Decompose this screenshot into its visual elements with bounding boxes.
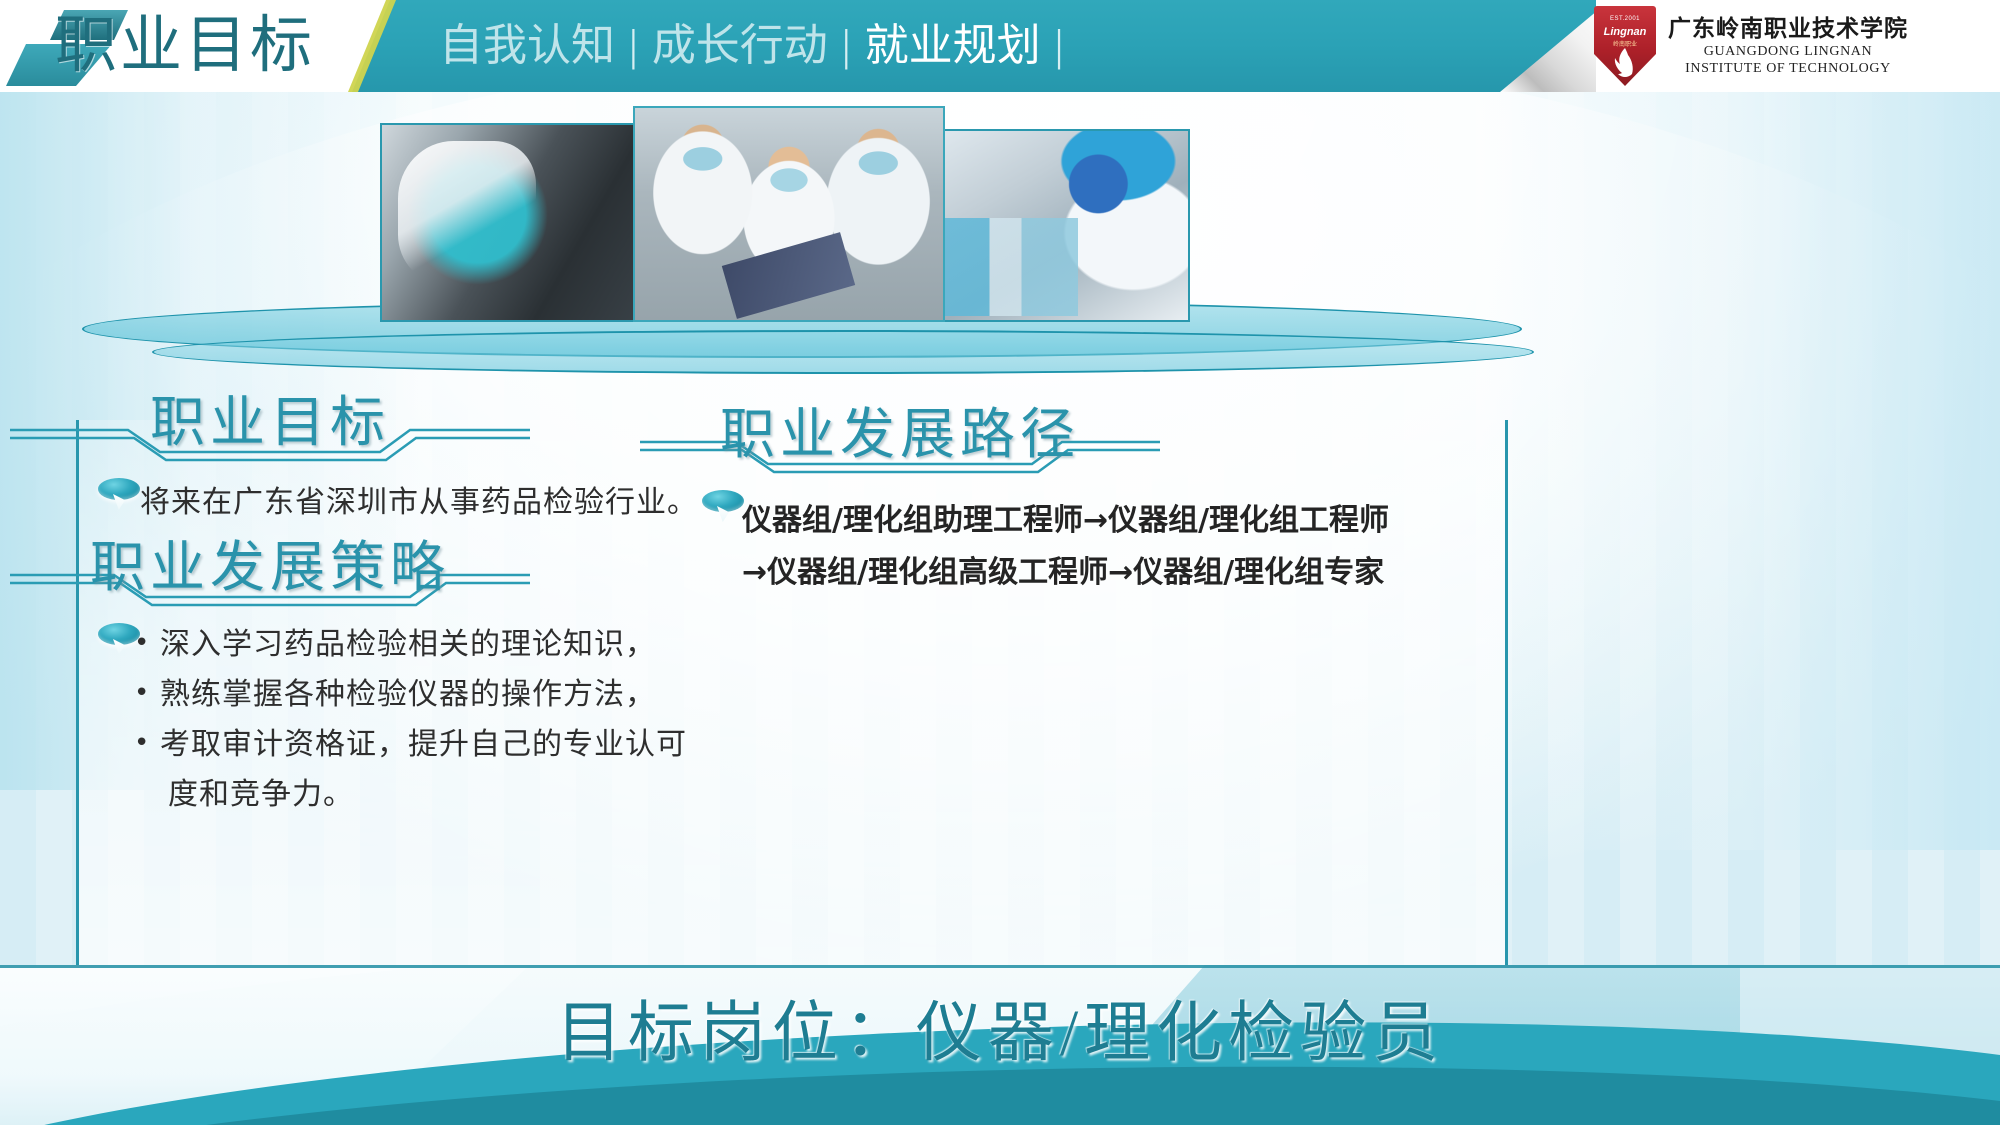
shield-crest-icon: EST.2001 Lingnan 岭南职业 xyxy=(1594,6,1656,86)
photo-microscope-analysis xyxy=(937,129,1190,322)
background-right-glow xyxy=(1480,90,2000,850)
nav-separator: | xyxy=(842,8,851,84)
bullet-disc xyxy=(98,478,140,500)
bullet-marker-icon xyxy=(700,490,746,520)
shield-wordmark: Lingnan xyxy=(1594,26,1656,38)
platform-ellipse-front xyxy=(152,330,1534,374)
heading-career-goal-text: 职业目标 xyxy=(134,378,406,468)
bottom-banner: 目标岗位：仪器/理化检验员 xyxy=(0,965,2000,1125)
phoenix-bird-icon xyxy=(1608,46,1642,80)
list-item-text: 深入学习药品检验相关的理论知识， xyxy=(160,627,656,662)
banner-top-rule xyxy=(0,965,2000,968)
list-item: 熟练掌握各种检验仪器的操作方法， xyxy=(130,670,687,720)
career-path-body: 仪器组/理化组助理工程师→仪器组/理化组工程师 →仪器组/理化组高级工程师→仪器… xyxy=(742,495,1389,599)
page-title: 职业目标 xyxy=(55,6,315,86)
career-goal-body: 将来在广东省深圳市从事药品检验行业。 xyxy=(140,480,698,526)
school-name-en-line2: INSTITUTE OF TECHNOLOGY xyxy=(1668,60,1908,77)
heading-career-strategy-text: 职业发展策略 xyxy=(74,523,466,613)
photo-lab-team-discussion xyxy=(633,106,945,322)
list-item-text: 熟练掌握各种检验仪器的操作方法， xyxy=(160,677,656,712)
school-name-en-line1: GUANGDONG LINGNAN xyxy=(1668,43,1908,60)
heading-career-strategy: 职业发展策略 xyxy=(10,523,530,613)
shield-est-label: EST.2001 xyxy=(1594,16,1656,22)
school-name-cn: 广东岭南职业技术学院 xyxy=(1668,15,1908,43)
list-item: 深入学习药品检验相关的理论知识， xyxy=(130,620,687,670)
nav-item-self-awareness[interactable]: 自我认知 xyxy=(425,8,629,84)
heading-career-path: 职业发展路径 xyxy=(640,390,1160,480)
photo-pipetting-samples xyxy=(380,123,650,322)
target-position-title: 目标岗位：仪器/理化检验员 xyxy=(0,979,2000,1089)
heading-career-goal: 职业目标 xyxy=(10,378,530,468)
list-item-text-continuation: 度和竞争力。 xyxy=(160,770,687,820)
slide-header: 职业目标 自我认知 | 成长行动 | 就业规划 | EST.2001 Lingn… xyxy=(0,0,2000,92)
nav-separator: | xyxy=(629,8,638,84)
heading-career-path-text: 职业发展路径 xyxy=(704,390,1096,480)
list-item: 考取审计资格证，提升自己的专业认可 度和竞争力。 xyxy=(130,720,687,820)
header-nav: 自我认知 | 成长行动 | 就业规划 | xyxy=(425,8,1063,84)
bullet-marker-icon xyxy=(96,478,142,508)
bullet-disc xyxy=(702,490,744,512)
slide-root: 职业目标 自我认知 | 成长行动 | 就业规划 | EST.2001 Lingn… xyxy=(0,0,2000,1125)
nav-item-career-planning[interactable]: 就业规划 xyxy=(851,8,1055,84)
photo-strip xyxy=(380,106,1200,322)
nav-separator: | xyxy=(1055,8,1064,84)
list-item-text: 考取审计资格证，提升自己的专业认可 xyxy=(160,727,687,762)
career-path-line-2: →仪器组/理化组高级工程师→仪器组/理化组专家 xyxy=(742,547,1389,599)
school-logo: EST.2001 Lingnan 岭南职业 广东岭南职业技术学院 GUANGDO… xyxy=(1594,4,1984,88)
career-path-line-1: 仪器组/理化组助理工程师→仪器组/理化组工程师 xyxy=(742,495,1389,547)
career-strategy-list: 深入学习药品检验相关的理论知识， 熟练掌握各种检验仪器的操作方法， 考取审计资格… xyxy=(130,620,687,820)
nav-item-growth-action[interactable]: 成长行动 xyxy=(638,8,842,84)
school-name-block: 广东岭南职业技术学院 GUANGDONG LINGNAN INSTITUTE O… xyxy=(1668,15,1908,77)
